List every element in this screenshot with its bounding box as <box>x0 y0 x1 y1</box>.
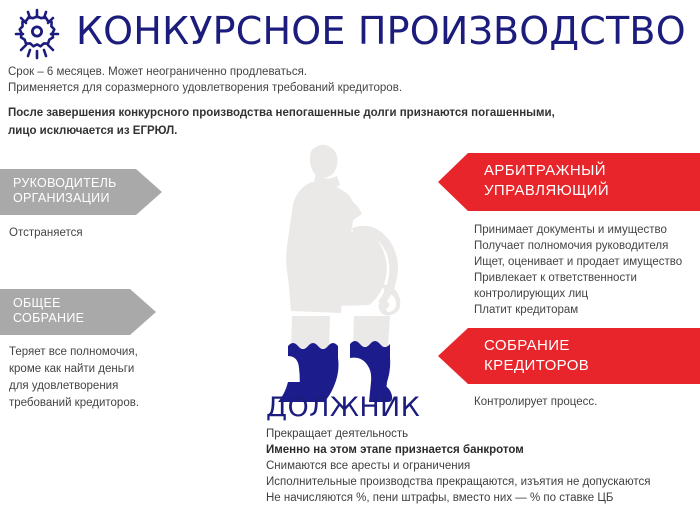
banner-line: АРБИТРАЖНЫЙ <box>484 161 690 181</box>
note-head-of-organization: Отстраняется <box>9 225 209 242</box>
note-line: Платит кредиторам <box>474 302 700 318</box>
header: КОНКУРСНОЕ ПРОИЗВОДСТВО <box>0 0 700 62</box>
debtor-list: Прекращает деятельность Именно на этом э… <box>266 426 700 506</box>
lede-line: После завершения конкурсного производств… <box>8 104 628 122</box>
note-line: Получает полномочия руководителя <box>474 238 700 254</box>
intro-line: Срок – 6 месяцев. Может неограниченно пр… <box>8 64 608 80</box>
banner-line: ОБЩЕЕ <box>13 296 156 311</box>
banner-line: РУКОВОДИТЕЛЬ <box>13 176 162 191</box>
infographic-root: КОНКУРСНОЕ ПРОИЗВОДСТВО Срок – 6 месяцев… <box>0 0 700 503</box>
debtor-line: Исполнительные производства прекращаются… <box>266 474 700 490</box>
lede-line: лицо исключается из ЕГРЮЛ. <box>8 122 628 140</box>
banner-creditors-meeting: СОБРАНИЕ КРЕДИТОРОВ <box>438 328 700 384</box>
debtor-title: ДОЛЖНИК <box>266 392 420 424</box>
note-line: Принимает документы и имущество <box>474 222 700 238</box>
banner-line: ОРГАНИЗАЦИИ <box>13 191 162 206</box>
note-line: Отстраняется <box>9 225 209 242</box>
gear-sun-icon <box>6 8 68 60</box>
banner-line: УПРАВЛЯЮЩИЙ <box>484 181 690 201</box>
note-line: Привлекает к ответственности <box>474 270 700 286</box>
debtor-line: Именно на этом этапе признается банкрото… <box>266 442 700 458</box>
banner-head-of-organization: РУКОВОДИТЕЛЬ ОРГАНИЗАЦИИ <box>0 169 162 215</box>
banner-general-meeting: ОБЩЕЕ СОБРАНИЕ <box>0 289 156 335</box>
debtor-line: Снимаются все аресты и ограничения <box>266 458 700 474</box>
note-general-meeting: Теряет все полномочия, кроме как найти д… <box>9 344 194 412</box>
debtor-line: Не начисляются %, пени штрафы, вместо ни… <box>266 490 700 506</box>
banner-line: КРЕДИТОРОВ <box>484 356 690 376</box>
intro-line: Применяется для соразмерного удовлетворе… <box>8 80 608 96</box>
note-creditors-meeting: Контролирует процесс. <box>474 394 700 410</box>
banner-line: СОБРАНИЕ <box>13 311 156 326</box>
note-line: контролирующих лиц <box>474 286 700 302</box>
intro-text: Срок – 6 месяцев. Может неограниченно пр… <box>8 64 608 96</box>
note-line: Ищет, оценивает и продает имущество <box>474 254 700 270</box>
note-line: кроме как найти деньги <box>9 361 194 378</box>
note-arbitration-manager: Принимает документы и имущество Получает… <box>474 222 700 318</box>
note-line: требований кредиторов. <box>9 395 194 412</box>
note-line: Теряет все полномочия, <box>9 344 194 361</box>
drowning-debtor-silhouette <box>258 140 438 402</box>
lede-text: После завершения конкурсного производств… <box>8 104 628 140</box>
page-title: КОНКУРСНОЕ ПРОИЗВОДСТВО <box>76 8 686 54</box>
debtor-line: Прекращает деятельность <box>266 426 700 442</box>
note-line: для удовлетворения <box>9 378 194 395</box>
note-line: Контролирует процесс. <box>474 394 700 410</box>
banner-line: СОБРАНИЕ <box>484 336 690 356</box>
banner-arbitration-manager: АРБИТРАЖНЫЙ УПРАВЛЯЮЩИЙ <box>438 153 700 211</box>
